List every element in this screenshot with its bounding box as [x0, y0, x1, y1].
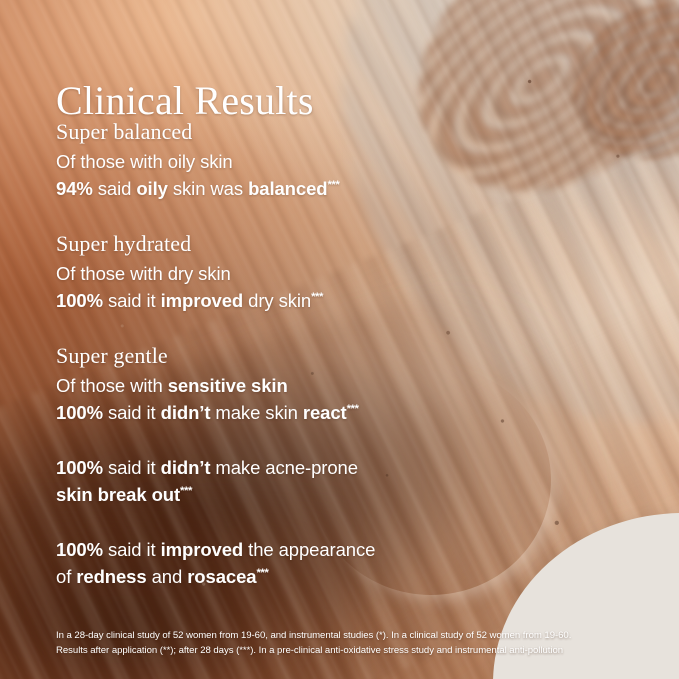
footnote-marker: ***: [347, 403, 359, 415]
claim-emphasis: 94%: [56, 178, 93, 199]
claim-emphasis: improved: [161, 290, 243, 311]
claim-line: 94% said oily skin was balanced***: [56, 175, 526, 202]
clinical-results-card: Clinical Results Super balancedOf those …: [0, 0, 679, 679]
claim-emphasis: oily: [136, 178, 167, 199]
footnote: In a 28-day clinical study of 52 women f…: [56, 628, 641, 658]
content-layer: Clinical Results Super balancedOf those …: [0, 0, 679, 679]
claim-heading: Super hydrated: [56, 230, 526, 258]
claim-line: 100% said it didn’t make acne-prone: [56, 454, 526, 481]
page-title: Clinical Results: [56, 79, 314, 124]
claim-text: dry skin: [243, 290, 311, 311]
claim-emphasis: skin break out: [56, 484, 180, 505]
claim-heading: Super gentle: [56, 342, 526, 370]
footnote-marker: ***: [180, 485, 192, 497]
claim-text: said it: [103, 539, 161, 560]
claim-line: Of those with oily skin: [56, 148, 526, 175]
claim-text: Of those with oily skin: [56, 151, 233, 172]
claim-emphasis: balanced: [248, 178, 327, 199]
claim-line: 100% said it improved the appearance: [56, 536, 526, 563]
claim-text: make acne-prone: [210, 457, 358, 478]
claims-list: Super balancedOf those with oily skin94%…: [56, 118, 526, 618]
claim-emphasis: 100%: [56, 539, 103, 560]
claim-text: said: [93, 178, 137, 199]
claim-block: Super gentleOf those with sensitive skin…: [56, 342, 526, 426]
claim-line: of redness and rosacea***: [56, 563, 526, 590]
claim-emphasis: sensitive skin: [168, 375, 288, 396]
claim-block: 100% said it improved the appearanceof r…: [56, 536, 526, 590]
footnote-marker: ***: [311, 291, 323, 303]
claim-text: Of those with dry skin: [56, 263, 231, 284]
claim-text: said it: [103, 457, 161, 478]
claim-line: skin break out***: [56, 481, 526, 508]
claim-text: make skin: [210, 402, 302, 423]
footnote-marker: ***: [327, 179, 339, 191]
claim-emphasis: rosacea: [187, 566, 256, 587]
claim-text: skin was: [168, 178, 248, 199]
claim-text: said it: [103, 290, 161, 311]
claim-text: said it: [103, 402, 161, 423]
claim-block: Super hydratedOf those with dry skin100%…: [56, 230, 526, 314]
footnote-marker: ***: [256, 567, 268, 579]
claim-text: of: [56, 566, 76, 587]
claim-block: Super balancedOf those with oily skin94%…: [56, 118, 526, 202]
claim-emphasis: 100%: [56, 457, 103, 478]
claim-emphasis: react: [303, 402, 347, 423]
claim-emphasis: improved: [161, 539, 243, 560]
claim-emphasis: redness: [76, 566, 146, 587]
claim-block: 100% said it didn’t make acne-proneskin …: [56, 454, 526, 508]
claim-emphasis: didn’t: [161, 457, 211, 478]
claim-line: 100% said it didn’t make skin react***: [56, 399, 526, 426]
claim-line: Of those with sensitive skin: [56, 372, 526, 399]
claim-emphasis: didn’t: [161, 402, 211, 423]
claim-line: Of those with dry skin: [56, 260, 526, 287]
claim-text: and: [147, 566, 188, 587]
claim-emphasis: 100%: [56, 402, 103, 423]
claim-text: the appearance: [243, 539, 375, 560]
claim-line: 100% said it improved dry skin***: [56, 287, 526, 314]
footnote-line-2: Results after application (**); after 28…: [56, 643, 641, 658]
claim-text: Of those with: [56, 375, 168, 396]
claim-heading: Super balanced: [56, 118, 526, 146]
footnote-line-1: In a 28-day clinical study of 52 women f…: [56, 628, 641, 643]
claim-emphasis: 100%: [56, 290, 103, 311]
